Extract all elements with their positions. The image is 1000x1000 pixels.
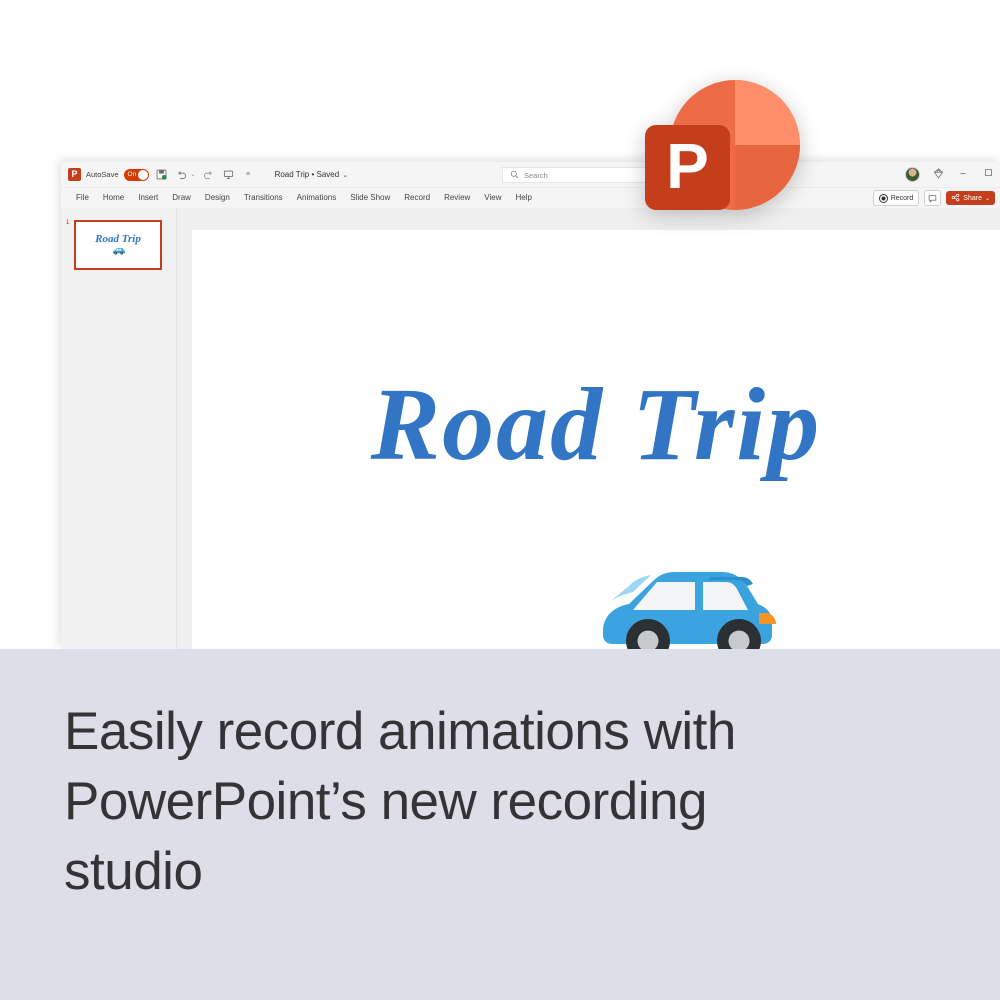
tab-insert[interactable]: Insert [131,188,165,208]
slide-title-text[interactable]: Road Trip [371,373,821,477]
minimize-button[interactable]: − [957,162,969,187]
tab-draw[interactable]: Draw [165,188,198,208]
title-bar: AutoSave On ⌄ ≡ Road Trip • Saved⌄ [61,162,1000,188]
search-icon [510,166,519,184]
tab-transitions[interactable]: Transitions [237,188,290,208]
record-icon [879,194,888,203]
avatar[interactable] [905,167,920,182]
slide-number: 1 [66,220,69,226]
tab-view[interactable]: View [477,188,508,208]
tab-file[interactable]: File [69,188,96,208]
document-title-text: Road Trip • Saved [275,170,340,179]
document-title[interactable]: Road Trip • Saved⌄ [275,170,349,179]
tab-help[interactable]: Help [509,188,539,208]
record-button[interactable]: Record [873,190,920,206]
comment-icon[interactable] [924,190,941,206]
tab-animations[interactable]: Animations [290,188,344,208]
save-icon[interactable] [154,167,169,182]
car-emoji[interactable] [591,555,789,649]
work-area: 1 Road Trip Road Trip [61,208,1000,649]
undo-dropdown-icon[interactable]: ⌄ [191,171,196,178]
tab-slide-show[interactable]: Slide Show [343,188,397,208]
powerpoint-window: AutoSave On ⌄ ≡ Road Trip • Saved⌄ [61,162,1000,649]
redo-icon[interactable] [201,167,216,182]
quick-access-toolbar: AutoSave On ⌄ ≡ Road Trip • Saved⌄ [61,162,348,187]
slide-thumbnail-1[interactable]: Road Trip [74,220,162,270]
slide-thumbnail-title: Road Trip [95,233,141,245]
document-title-caret-icon: ⌄ [342,172,348,179]
tab-home[interactable]: Home [96,188,131,208]
slide-canvas[interactable]: Road Trip [192,230,1000,649]
tab-record[interactable]: Record [397,188,437,208]
tab-review[interactable]: Review [437,188,477,208]
ribbon-tab-bar: File Home Insert Draw Design Transitions… [61,188,1000,209]
share-button[interactable]: Share ⌄ [946,191,995,205]
diamond-icon[interactable] [933,166,944,184]
maximize-button[interactable] [982,162,994,187]
present-icon[interactable] [221,167,236,182]
window-controls: − [905,162,994,187]
slide-scroll-area: Road Trip [177,208,1000,649]
tab-design[interactable]: Design [198,188,237,208]
logo-quadrant-bottom-right [735,145,800,210]
undo-icon[interactable] [174,167,189,182]
caption-band: Easily record animations with PowerPoint… [0,649,1000,1000]
quick-access-more-icon[interactable]: ≡ [241,167,256,182]
autosave-toggle[interactable]: On [124,169,149,181]
autosave-toggle-label: On [128,169,137,181]
ribbon-actions: Record Share ⌄ [873,190,995,206]
autosave-toggle-knob [138,170,148,180]
search-placeholder: Search [524,171,548,180]
caption-text: Easily record animations with PowerPoint… [64,697,764,907]
autosave-label: AutoSave [86,170,119,179]
logo-quadrant-top-right [735,80,800,145]
logo-letter: P [666,134,709,198]
slide-thumbnail-pane[interactable]: 1 Road Trip [61,208,177,649]
share-icon [951,193,960,204]
share-caret-icon: ⌄ [985,195,990,202]
share-button-label: Share [963,195,982,202]
powerpoint-icon [68,168,81,181]
logo-square: P [645,125,730,210]
record-button-label: Record [891,195,914,202]
car-emoji [112,247,125,257]
powerpoint-app-logo: P [645,80,800,235]
